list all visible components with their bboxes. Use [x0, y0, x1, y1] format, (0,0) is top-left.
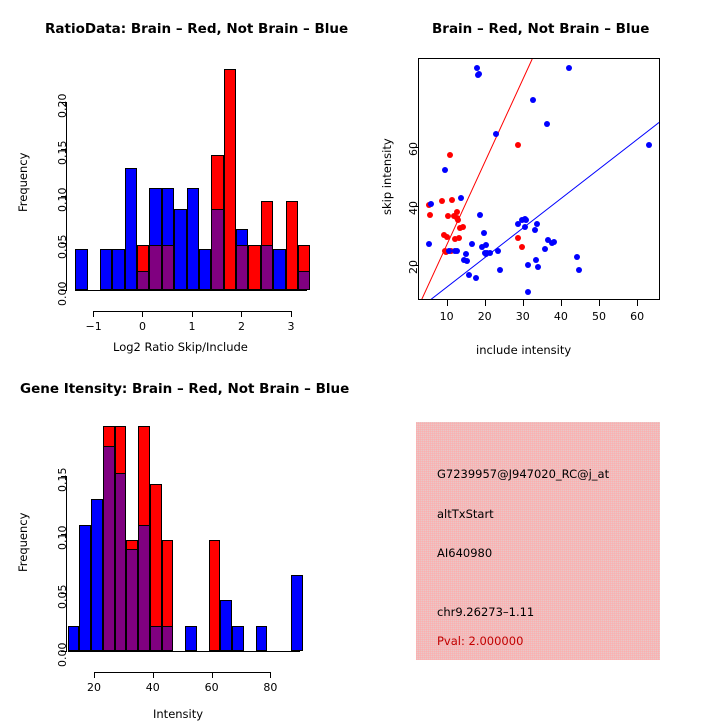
gene-bar-notbrain [185, 626, 197, 651]
gene-y-tick-label: 0.10 [56, 526, 69, 551]
gene-x-tick [212, 672, 213, 678]
scatter-point-brain [444, 234, 450, 240]
scatter-point-notbrain [534, 221, 540, 227]
scatter-point-notbrain [428, 201, 434, 207]
ratio-bar-overlap [149, 245, 161, 290]
ratio-x-tick [142, 311, 143, 317]
ratio-y-tick-label: 0.10 [56, 188, 69, 213]
scatter-x-tick [485, 300, 486, 306]
info-line-locus: chr9.26273–1.11 [437, 605, 534, 619]
gene-x-tick [270, 672, 271, 678]
ratio-y-tick-label: 0.00 [56, 282, 69, 307]
ratio-bar-brain [286, 201, 298, 290]
gene-bar-brain [209, 540, 221, 651]
ratio-x-tick-label: 3 [288, 320, 295, 333]
scatter-point-notbrain [426, 241, 432, 247]
gene-bar-overlap [115, 473, 127, 651]
scatter-y-tick-label: 20 [407, 260, 420, 274]
gene-x-tick-label: 40 [146, 681, 160, 694]
gene-bar-notbrain [232, 626, 244, 651]
gene-bar-notbrain [256, 626, 268, 651]
scatter-point-notbrain [469, 241, 475, 247]
scatter-x-tick [447, 300, 448, 306]
scatter-point-notbrain [544, 121, 550, 127]
ratio-histogram-panel: RatioData: Brain – Red, Not Brain – Blue… [0, 0, 360, 360]
scatter-x-tick-label: 40 [554, 310, 568, 323]
scatter-frame [418, 58, 660, 300]
ratio-bar-notbrain [125, 168, 137, 290]
scatter-point-notbrain [493, 131, 499, 137]
ratio-x-tick [241, 311, 242, 317]
gene-x-tick-label: 20 [87, 681, 101, 694]
gene-bar-notbrain [91, 499, 103, 651]
ratio-histogram-plot-area: 0.000.050.100.150.20−10123 [0, 0, 360, 360]
gene-x-tick [153, 672, 154, 678]
gene-baseline [68, 651, 300, 652]
gene-y-tick-label: 0.15 [56, 467, 69, 492]
gene-bar-notbrain [220, 600, 232, 651]
ratio-bar-overlap [298, 271, 310, 290]
gene-bar-notbrain [68, 626, 80, 651]
gene-y-tick-label: 0.05 [56, 584, 69, 609]
scatter-point-brain [447, 152, 453, 158]
ratio-x-tick-label: 2 [238, 320, 245, 333]
annotation-info-panel: G7239957@J947020_RC@j_at altTxStart AI64… [416, 422, 660, 660]
scatter-point-notbrain [477, 212, 483, 218]
scatter-x-tick [523, 300, 524, 306]
figure-canvas: RatioData: Brain – Red, Not Brain – Blue… [0, 0, 720, 720]
scatter-y-tick-label: 40 [407, 201, 420, 215]
ratio-bar-notbrain [187, 188, 199, 290]
scatter-point-notbrain [525, 289, 531, 295]
info-line-pvalue: Pval: 2.000000 [437, 634, 523, 648]
info-line-accession: AI640980 [437, 546, 492, 560]
scatter-point-notbrain [542, 246, 548, 252]
scatter-x-tick-label: 10 [440, 310, 454, 323]
scatter-point-notbrain [566, 65, 572, 71]
info-line-probeset-id: G7239957@J947020_RC@j_at [437, 467, 609, 481]
scatter-point-brain [439, 198, 445, 204]
scatter-x-tick [561, 300, 562, 306]
ratio-bar-notbrain [75, 249, 87, 290]
scatter-x-tick-label: 50 [592, 310, 606, 323]
gene-x-tick [94, 672, 95, 678]
scatter-x-tick-label: 30 [516, 310, 530, 323]
ratio-x-tick-label: 1 [189, 320, 196, 333]
scatter-x-tick [599, 300, 600, 306]
gene-histogram-plot-area: 0.000.050.100.1520406080 [0, 360, 360, 720]
scatter-point-notbrain [463, 251, 469, 257]
ratio-bar-overlap [211, 209, 223, 290]
ratio-x-tick-label: 0 [139, 320, 146, 333]
gene-bar-notbrain [291, 575, 303, 651]
ratio-baseline [75, 290, 307, 291]
gene-x-axis-line [94, 672, 270, 673]
gene-x-tick-label: 60 [205, 681, 219, 694]
ratio-bar-notbrain [199, 249, 211, 290]
scatter-point-brain [455, 217, 461, 223]
gene-bar-notbrain [79, 525, 91, 651]
scatter-point-notbrain [481, 230, 487, 236]
intensity-scatter-panel: Brain – Red, Not Brain – Blue skip inten… [360, 0, 720, 360]
scatter-point-brain [460, 224, 466, 230]
scatter-y-tick-label: 60 [407, 142, 420, 156]
gene-intensity-histogram-panel: Gene Itensity: Brain – Red, Not Brain – … [0, 360, 360, 720]
info-line-event-type: altTxStart [437, 507, 494, 521]
scatter-point-notbrain [525, 262, 531, 268]
scatter-x-tick-label: 60 [630, 310, 644, 323]
gene-bar-overlap [126, 549, 138, 651]
not-brain-fit [431, 122, 659, 299]
ratio-x-tick [93, 311, 94, 317]
gene-x-tick-label: 80 [263, 681, 277, 694]
scatter-point-notbrain [466, 272, 472, 278]
ratio-bar-brain [224, 69, 236, 290]
ratio-x-tick [192, 311, 193, 317]
gene-bar-overlap [103, 446, 115, 651]
ratio-y-tick-label: 0.20 [56, 94, 69, 119]
ratio-bar-brain [248, 245, 260, 290]
ratio-bar-notbrain [174, 209, 186, 290]
scatter-point-notbrain [446, 248, 452, 254]
ratio-bar-notbrain [112, 249, 124, 290]
ratio-x-tick [291, 311, 292, 317]
ratio-y-tick-label: 0.05 [56, 235, 69, 260]
ratio-y-tick-label: 0.15 [56, 141, 69, 166]
gene-bar-overlap [162, 626, 174, 651]
gene-bar-overlap [150, 626, 162, 651]
scatter-point-notbrain [458, 195, 464, 201]
scatter-point-brain [449, 197, 455, 203]
scatter-point-notbrain [535, 264, 541, 270]
scatter-x-tick [637, 300, 638, 306]
ratio-bar-overlap [137, 271, 149, 290]
ratio-bar-notbrain [100, 249, 112, 290]
ratio-x-tick-label: −1 [86, 320, 102, 333]
ratio-bar-overlap [236, 245, 248, 290]
ratio-bar-overlap [162, 245, 174, 290]
ratio-bar-notbrain [273, 249, 285, 290]
scatter-point-notbrain [483, 242, 489, 248]
ratio-bar-overlap [261, 245, 273, 290]
scatter-point-notbrain [646, 142, 652, 148]
scatter-point-brain [427, 212, 433, 218]
scatter-plot-area: 204060102030405060 [360, 0, 720, 360]
scatter-x-tick-label: 20 [478, 310, 492, 323]
scatter-point-notbrain [487, 250, 493, 256]
gene-bar-overlap [138, 525, 150, 651]
